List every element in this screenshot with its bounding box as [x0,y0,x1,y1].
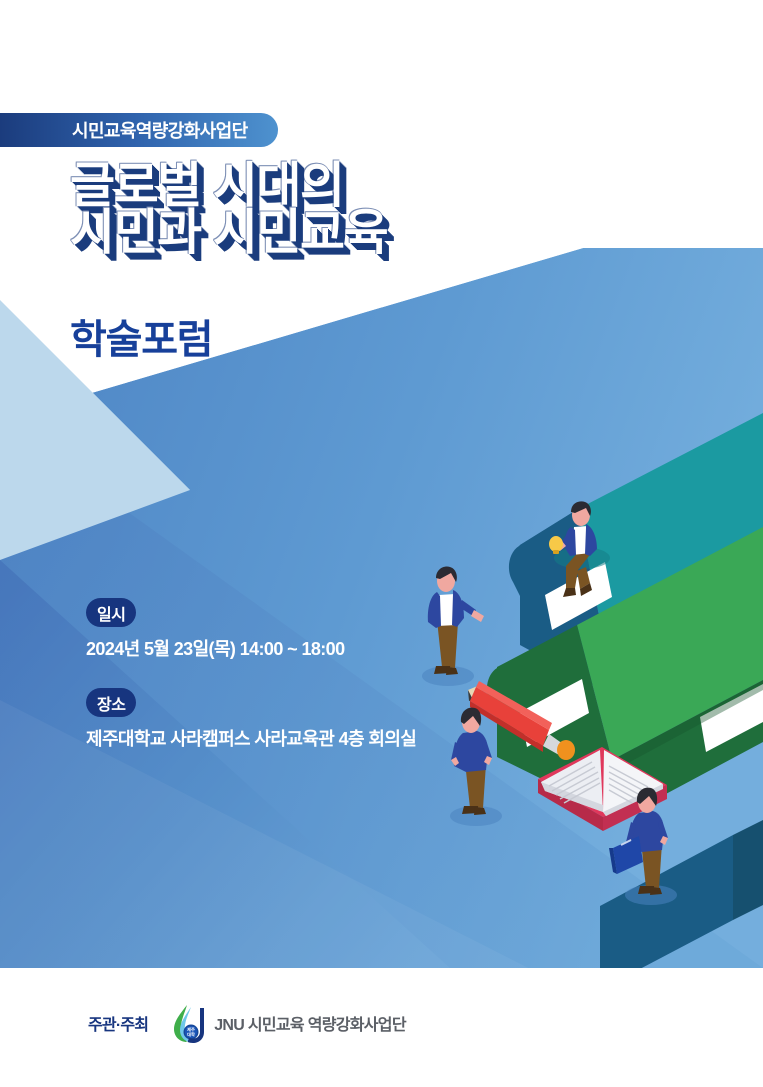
info-block-venue: 장소 제주대학교 사라캠퍼스 사라교육관 4층 회의실 [86,688,416,751]
info-tag-date: 일시 [86,598,136,627]
info-block-date: 일시 2024년 5월 23일(목) 14:00 ~ 18:00 [86,598,345,661]
info-value-date: 2024년 5월 23일(목) 14:00 ~ 18:00 [86,635,345,661]
program-badge: 시민교육역량강화사업단 [0,113,278,147]
footer-organization-name: JNU 시민교육 역량강화사업단 [214,1011,406,1035]
page-title-line-2: 시민과 시민교육 [70,210,387,257]
footer: 주관·주최 제주 대학 JNU 시민교육 역량강화사업단 [0,968,763,1087]
svg-text:대학: 대학 [187,1031,195,1038]
info-tag-venue: 장소 [86,688,136,717]
page-title-line-1: 글로벌 시대의 [70,163,387,210]
jnu-flame-logo-icon: 제주 대학 [170,1002,208,1044]
footer-label: 주관·주최 [88,1011,148,1035]
page-title: 글로벌 시대의 시민과 시민교육 [70,163,387,257]
info-value-venue: 제주대학교 사라캠퍼스 사라교육관 4층 회의실 [86,725,416,751]
page-subtitle: 학술포럼 [70,307,212,365]
poster-root: 시민교육역량강화사업단 글로벌 시대의 시민과 시민교육 학술포럼 일시 202… [0,0,763,1087]
